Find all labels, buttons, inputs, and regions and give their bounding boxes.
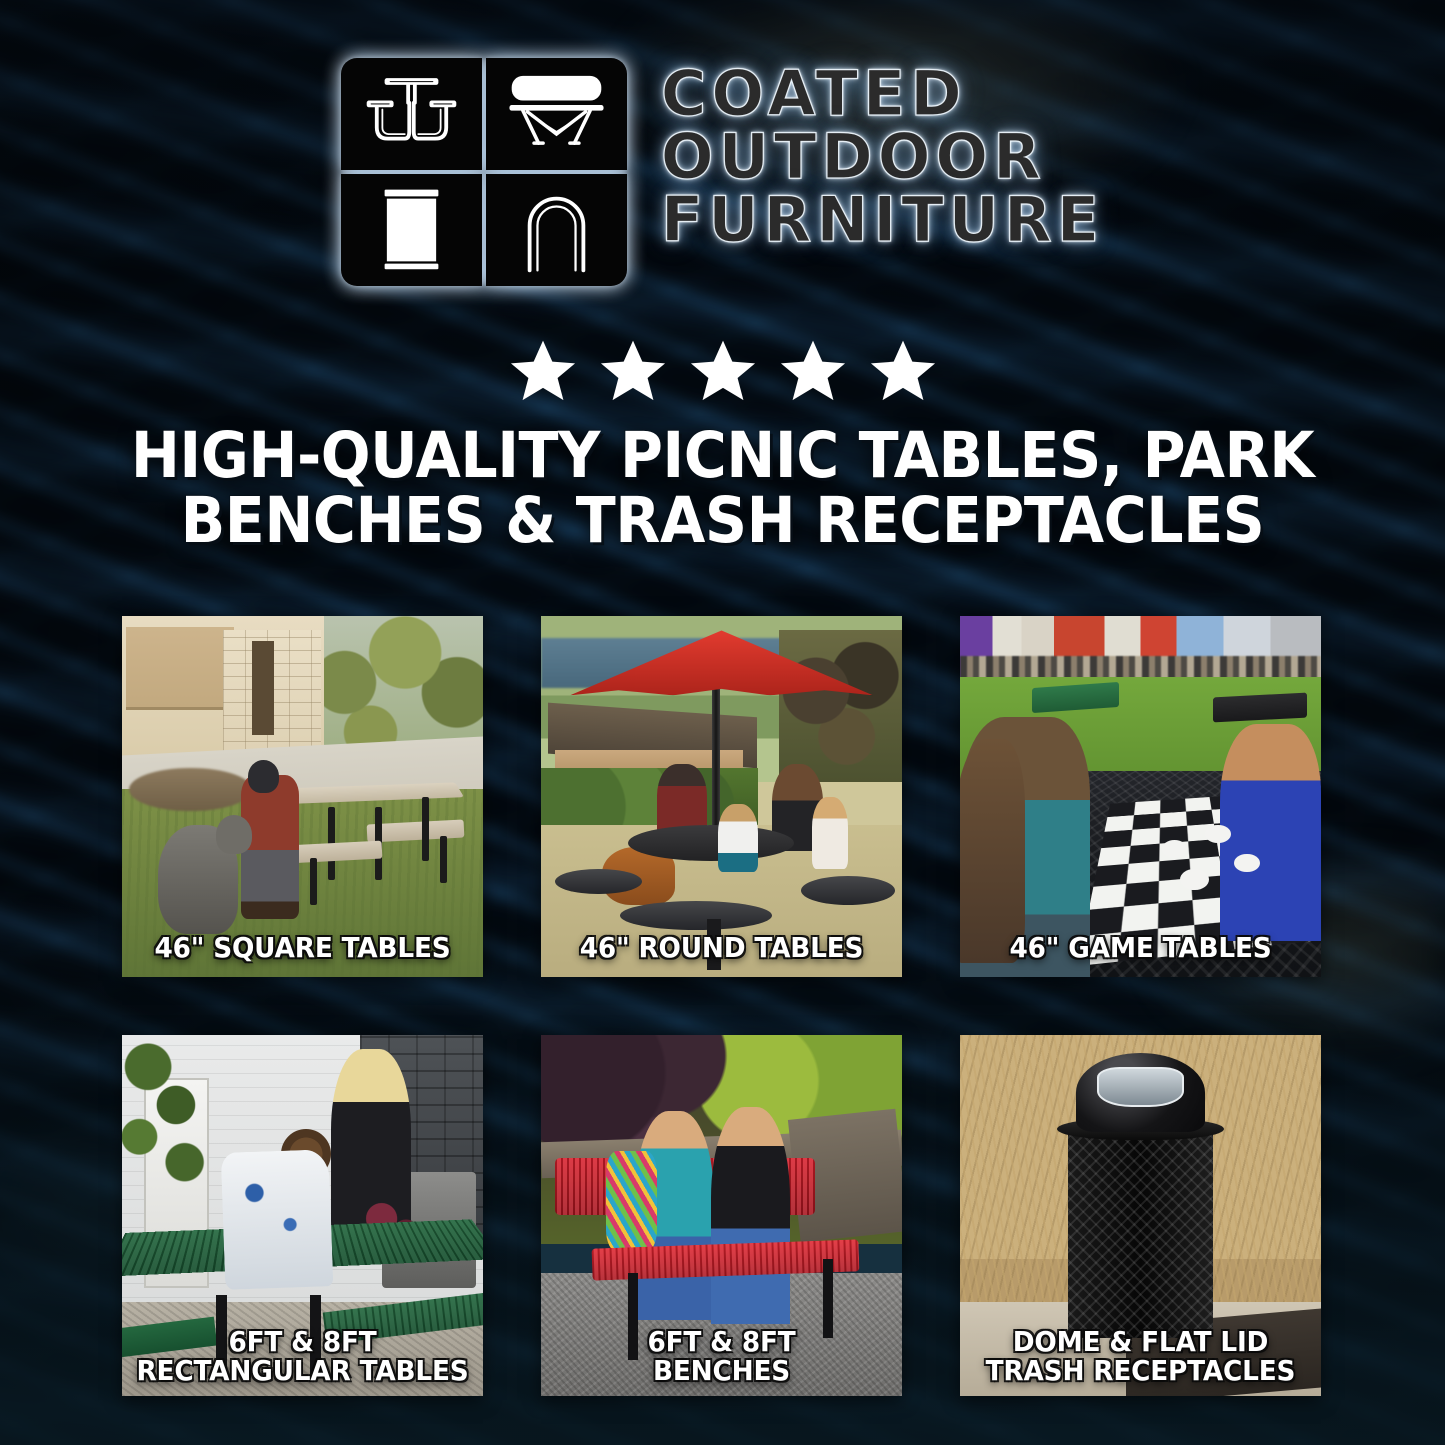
caption-line-1: DOME & FLAT LID <box>971 1327 1310 1357</box>
brand-line-1: COATED <box>661 64 1104 125</box>
star-icon <box>777 336 849 406</box>
caption-line-1: 6FT & 8FT <box>133 1327 472 1357</box>
caption-line-1: 46" SQUARE TABLES <box>133 933 472 963</box>
star-icon <box>687 336 759 406</box>
product-tile-rectangular-tables[interactable]: 6FT & 8FT RECTANGULAR TABLES <box>122 1035 483 1396</box>
bench-table-icon <box>486 58 627 170</box>
brand-line-2: OUTDOOR <box>661 127 1104 188</box>
caption-line-2: TRASH RECEPTACLES <box>971 1356 1310 1386</box>
poster-content: COATED OUTDOOR FURNITURE HIGH-QUALITY PI… <box>0 0 1445 1445</box>
product-caption: 6FT & 8FT RECTANGULAR TABLES <box>133 1327 472 1386</box>
star-icon <box>597 336 669 406</box>
product-caption: 6FT & 8FT BENCHES <box>552 1327 891 1386</box>
product-tile-game-tables[interactable]: 46" GAME TABLES <box>960 616 1321 977</box>
product-photo-round-tables <box>541 616 902 977</box>
product-photo-game-tables <box>960 616 1321 977</box>
product-tile-benches[interactable]: 6FT & 8FT BENCHES <box>541 1035 902 1396</box>
product-caption: 46" ROUND TABLES <box>552 933 891 963</box>
product-tile-trash-receptacles[interactable]: DOME & FLAT LID TRASH RECEPTACLES <box>960 1035 1321 1396</box>
picnic-table-icon <box>341 58 482 170</box>
product-photo-square-tables <box>122 616 483 977</box>
product-tile-square-tables[interactable]: 46" SQUARE TABLES <box>122 616 483 977</box>
brand-line-3: FURNITURE <box>661 190 1104 251</box>
product-caption: 46" GAME TABLES <box>971 933 1310 963</box>
star-rating <box>0 336 1445 406</box>
caption-line-1: 46" GAME TABLES <box>971 933 1310 963</box>
headline-line-2: BENCHES & TRASH RECEPTACLES <box>106 489 1338 554</box>
caption-line-2: BENCHES <box>552 1356 891 1386</box>
product-tile-round-tables[interactable]: 46" ROUND TABLES <box>541 616 902 977</box>
caption-line-1: 6FT & 8FT <box>552 1327 891 1357</box>
brand-name: COATED OUTDOOR FURNITURE <box>661 58 1104 250</box>
product-caption: 46" SQUARE TABLES <box>133 933 472 963</box>
brand-logo: COATED OUTDOOR FURNITURE <box>0 58 1445 286</box>
star-icon <box>867 336 939 406</box>
logo-icon-grid <box>341 58 627 286</box>
product-caption: DOME & FLAT LID TRASH RECEPTACLES <box>971 1327 1310 1386</box>
caption-line-1: 46" ROUND TABLES <box>552 933 891 963</box>
page-title: HIGH-QUALITY PICNIC TABLES, PARK BENCHES… <box>51 424 1395 554</box>
star-icon <box>507 336 579 406</box>
headline-line-1: HIGH-QUALITY PICNIC TABLES, PARK <box>106 424 1338 489</box>
product-grid: 46" SQUARE TABLES <box>122 616 1323 1396</box>
bike-rack-arch-icon <box>486 174 627 286</box>
trash-receptacle-icon <box>341 174 482 286</box>
caption-line-2: RECTANGULAR TABLES <box>133 1356 472 1386</box>
